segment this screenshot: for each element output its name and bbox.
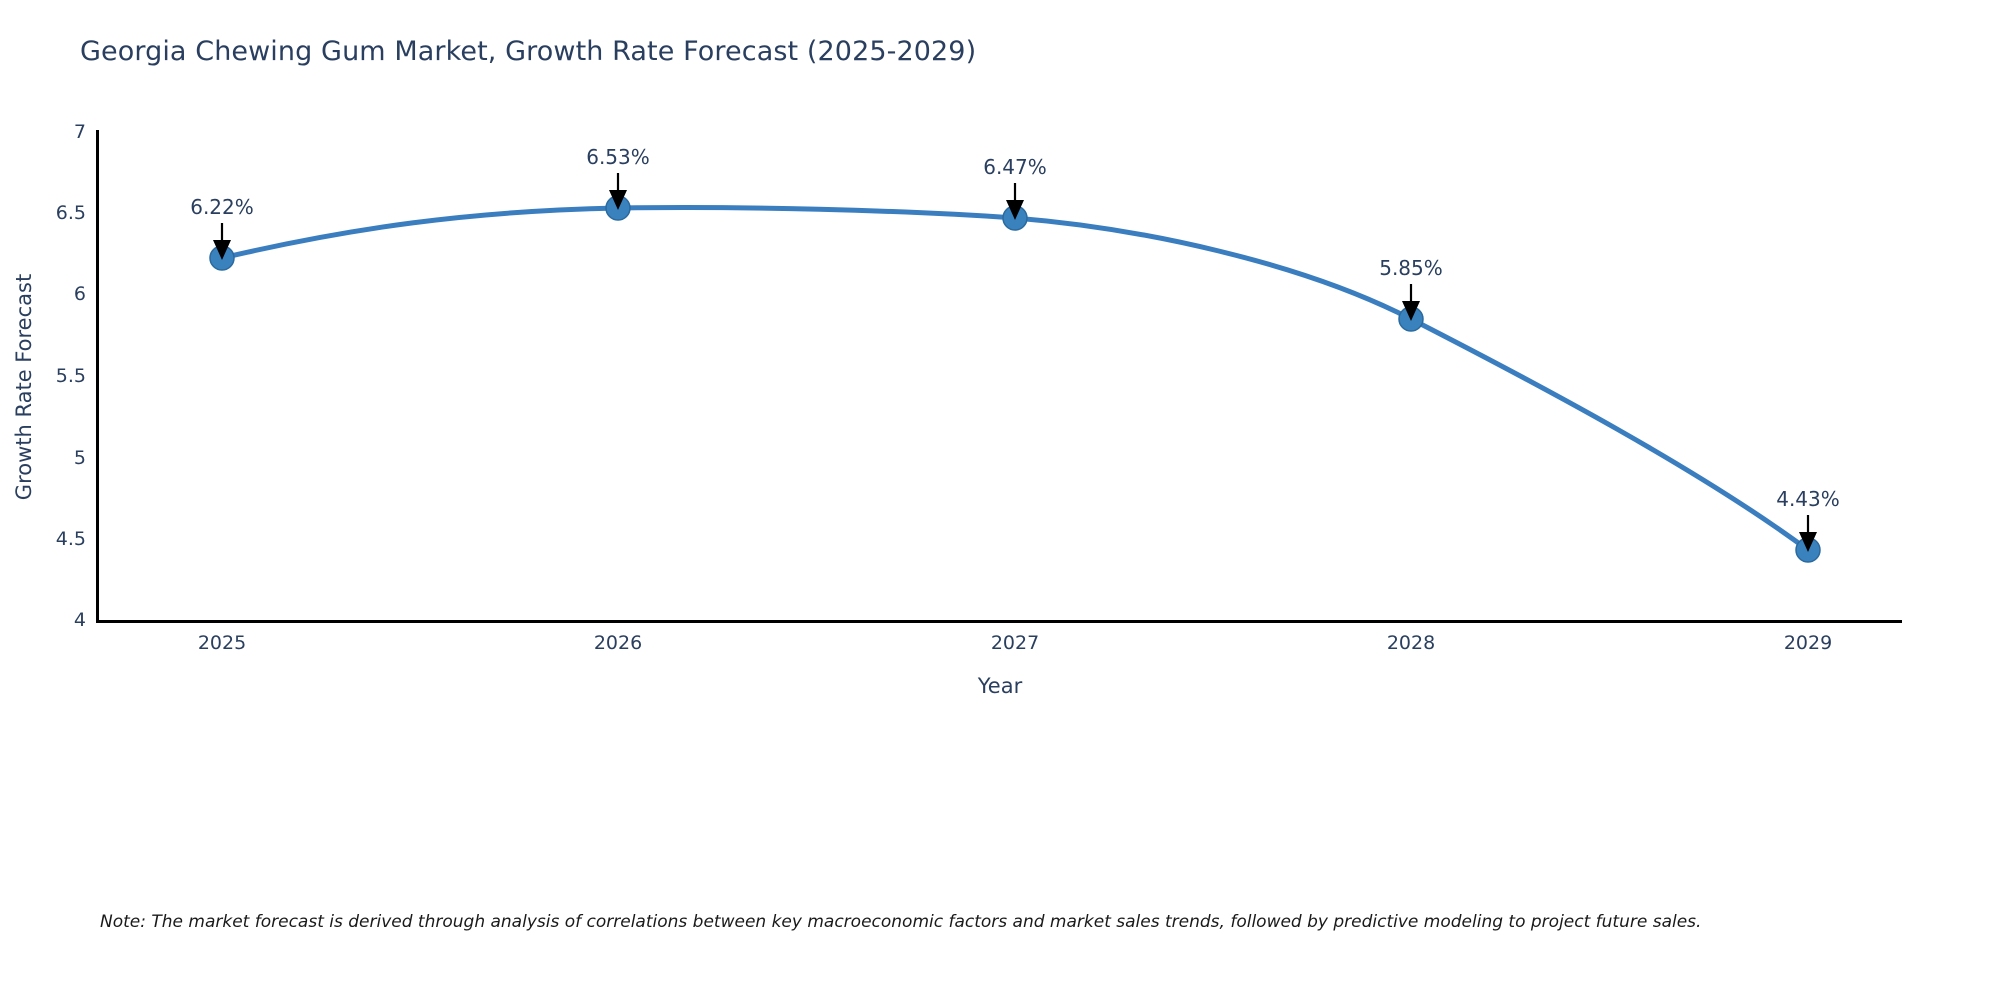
- data-label-2026: 6.53%: [586, 145, 650, 169]
- y-tick-label-6: 6: [0, 283, 86, 305]
- data-label-2027: 6.47%: [983, 155, 1047, 179]
- data-point-marker-2026[interactable]: [606, 196, 630, 220]
- chart-container: Georgia Chewing Gum Market, Growth Rate …: [0, 0, 2000, 1000]
- x-tick-label-2028: 2028: [1341, 632, 1481, 654]
- x-tick-label-2027: 2027: [945, 632, 1085, 654]
- data-point-marker-2028[interactable]: [1399, 307, 1423, 331]
- y-tick-label-4: 4: [0, 609, 86, 631]
- chart-title: Georgia Chewing Gum Market, Growth Rate …: [80, 36, 976, 67]
- y-tick-label-7: 7: [0, 121, 86, 143]
- annotation-arrow-2029: [1799, 515, 1817, 552]
- annotation-arrow-2026: [609, 173, 627, 210]
- data-point-marker-2025[interactable]: [210, 246, 234, 270]
- data-label-2029: 4.43%: [1776, 487, 1840, 511]
- y-tick-label-6.5: 6.5: [0, 202, 86, 224]
- y-axis-line: [96, 130, 99, 622]
- data-point-marker-2027[interactable]: [1003, 206, 1027, 230]
- y-tick-label-4.5: 4.5: [0, 528, 86, 550]
- annotation-arrow-2025: [213, 223, 231, 260]
- y-tick-label-5: 5: [0, 447, 86, 469]
- data-label-2025: 6.22%: [190, 195, 254, 219]
- series-line: [222, 207, 1808, 550]
- data-point-marker-2029[interactable]: [1796, 538, 1820, 562]
- annotation-arrow-2028: [1402, 284, 1420, 321]
- x-axis-title: Year: [0, 674, 2000, 698]
- x-axis-line: [96, 620, 1902, 623]
- chart-footnote: Note: The market forecast is derived thr…: [100, 912, 2000, 932]
- data-label-2028: 5.85%: [1379, 256, 1443, 280]
- x-tick-label-2029: 2029: [1738, 632, 1878, 654]
- annotation-arrow-2027: [1006, 183, 1024, 220]
- x-tick-label-2025: 2025: [152, 632, 292, 654]
- x-tick-label-2026: 2026: [548, 632, 688, 654]
- plot-series-svg: [0, 0, 2000, 1000]
- y-tick-label-5.5: 5.5: [0, 365, 86, 387]
